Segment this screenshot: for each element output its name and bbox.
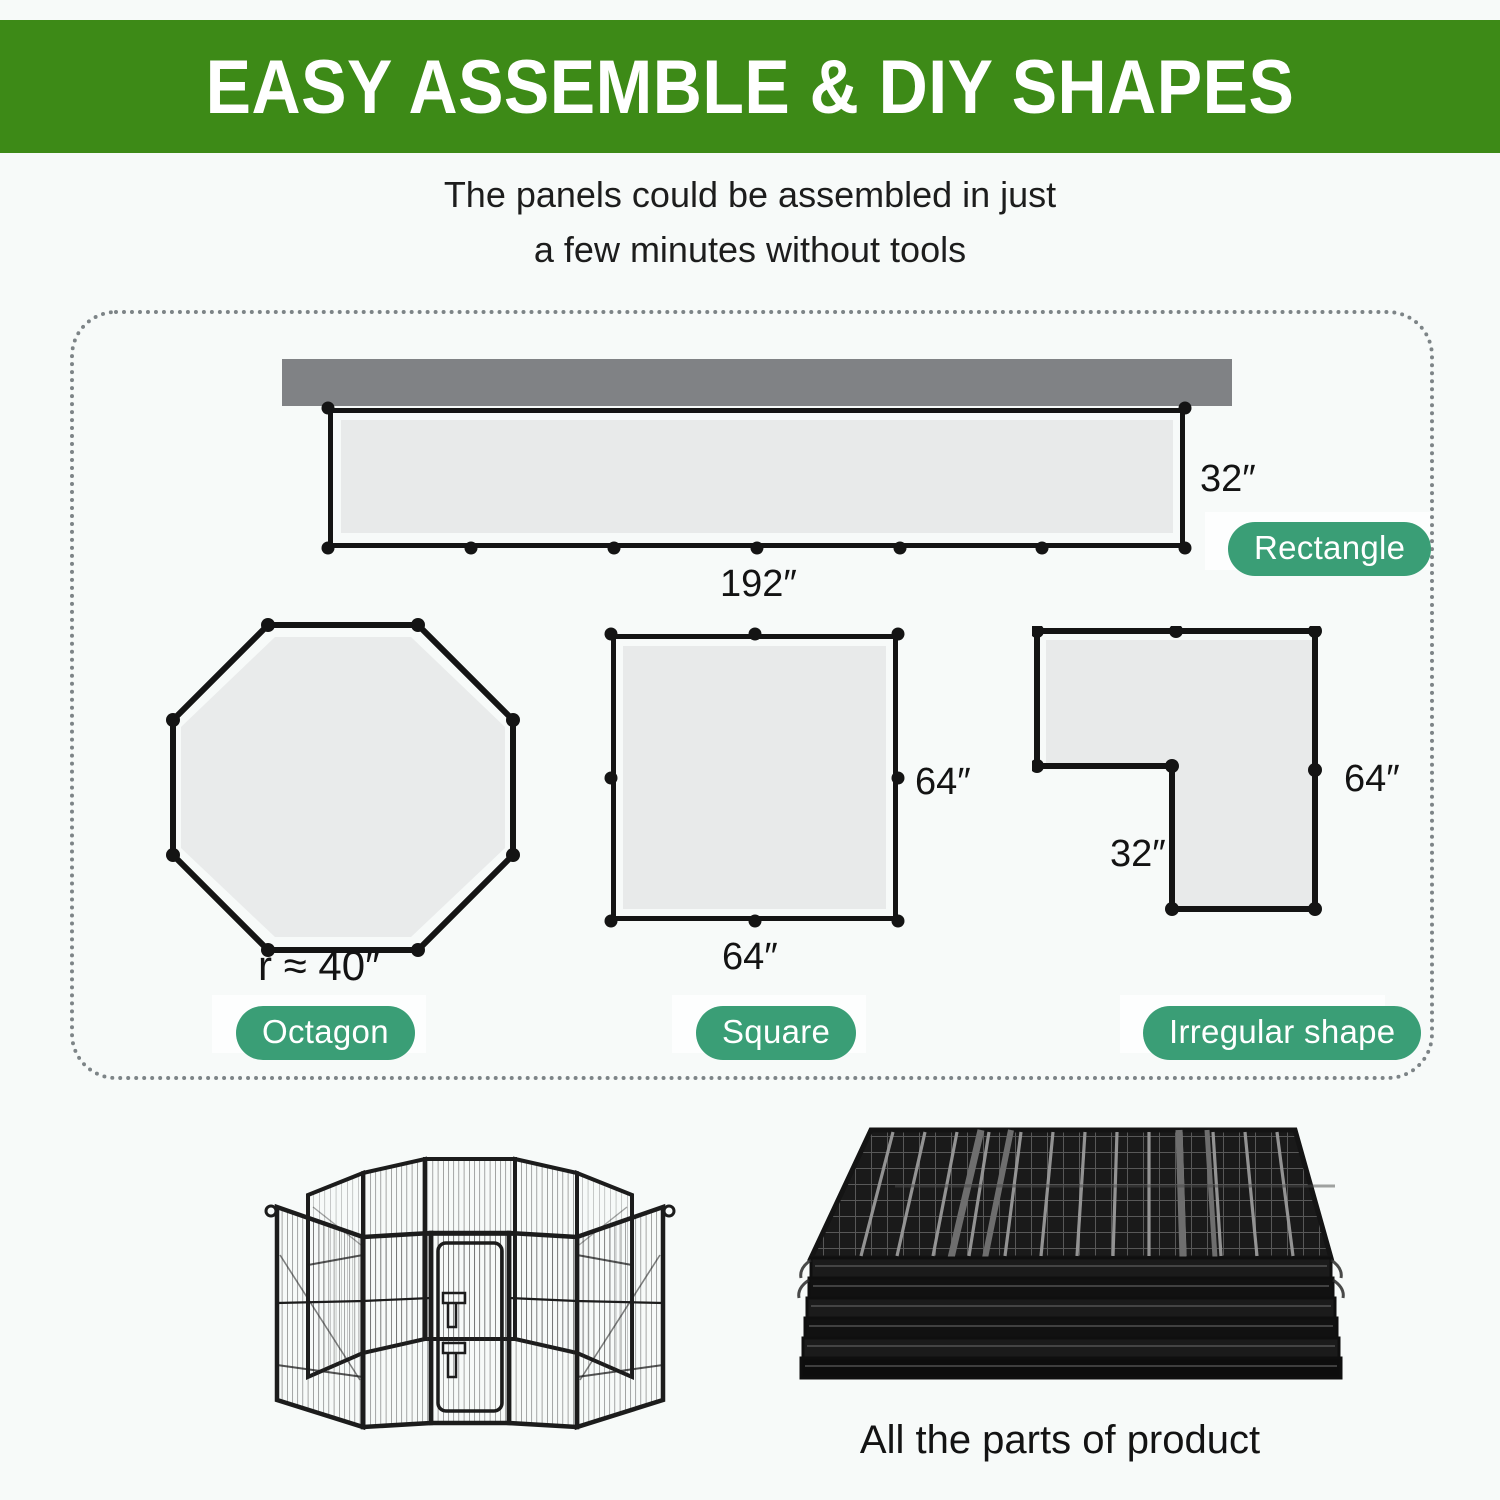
subtitle-line-1: The panels could be assembled in just xyxy=(0,168,1500,223)
badge-rectangle: Rectangle xyxy=(1228,522,1431,576)
header-banner: EASY ASSEMBLE & DIY SHAPES xyxy=(0,20,1500,153)
panel-joint-dot xyxy=(605,628,618,641)
panel-joint-dot xyxy=(608,542,621,555)
panel-joint-dot xyxy=(751,542,764,555)
panel-joint-dot xyxy=(322,542,335,555)
rectangle-height-label: 32″ xyxy=(1200,460,1256,498)
panel-joint-dot xyxy=(1036,542,1049,555)
square-width-label: 64″ xyxy=(722,938,778,976)
square-outline xyxy=(611,634,898,921)
irregular-height-label: 64″ xyxy=(1344,760,1400,798)
badge-irregular-shape: Irregular shape xyxy=(1143,1006,1421,1060)
folded-panel-stack-photo xyxy=(775,1120,1345,1410)
panel-joint-dot xyxy=(894,542,907,555)
rectangle-outline xyxy=(328,408,1185,548)
panel-joint-dot xyxy=(322,402,335,415)
panel-joint-dot xyxy=(749,915,762,928)
product-photos-section: All the parts of product xyxy=(0,1095,1500,1500)
assembled-playpen-photo xyxy=(235,1115,705,1455)
panel-joint-dot xyxy=(892,772,905,785)
square-height-label: 64″ xyxy=(915,763,971,801)
rectangle-top-gray-bar xyxy=(282,359,1232,406)
irregular-notch-label: 32″ xyxy=(1110,835,1166,873)
panel-joint-dot xyxy=(749,628,762,641)
panel-joint-dot xyxy=(1179,542,1192,555)
octagon-radius-label: r ≈ 40″ xyxy=(258,945,380,987)
panel-joint-dot xyxy=(892,628,905,641)
subtitle-line-2: a few minutes without tools xyxy=(0,223,1500,278)
page-title: EASY ASSEMBLE & DIY SHAPES xyxy=(206,48,1295,124)
folded-photo-caption: All the parts of product xyxy=(775,1420,1345,1460)
badge-square: Square xyxy=(696,1006,856,1060)
badge-octagon: Octagon xyxy=(236,1006,415,1060)
panel-joint-dot xyxy=(465,542,478,555)
octagon-outline xyxy=(163,615,523,960)
panel-joint-dot xyxy=(605,772,618,785)
panel-joint-dot xyxy=(605,915,618,928)
irregular-shape-outline xyxy=(1032,626,1342,936)
rectangle-width-label: 192″ xyxy=(720,565,797,603)
panel-joint-dot xyxy=(1179,402,1192,415)
subtitle-block: The panels could be assembled in just a … xyxy=(0,168,1500,277)
panel-joint-dot xyxy=(892,915,905,928)
